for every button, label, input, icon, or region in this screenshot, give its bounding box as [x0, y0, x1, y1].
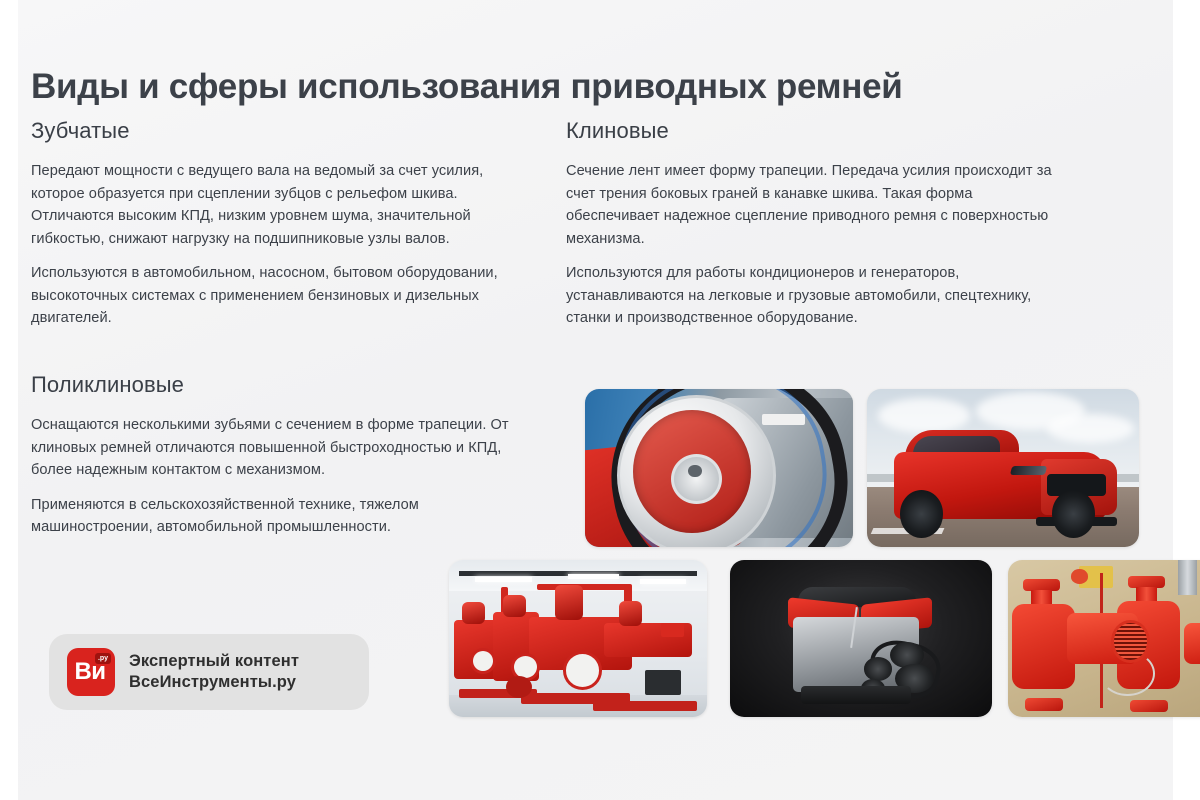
- infographic-canvas: Виды и сферы использования приводных рем…: [0, 0, 1200, 800]
- expert-content-badge: Ви .ру Экспертный контент ВсеИнструменты…: [49, 634, 369, 710]
- fire-pumps-illustration: [449, 560, 707, 717]
- section-paragraph: Оснащаются несколькими зубьями с сечение…: [31, 414, 521, 482]
- photo-v8-engine: [730, 560, 992, 717]
- section-paragraph: Сечение лент имеет форму трапеции. Перед…: [566, 160, 1066, 250]
- section-paragraph: Применяются в сельскохозяйственной техни…: [31, 494, 521, 539]
- section-heading-wedge: Клиновые: [566, 116, 1066, 146]
- sports-car-illustration: [867, 389, 1139, 547]
- photo-sports-car: [867, 389, 1139, 547]
- badge-line-1: Экспертный контент: [129, 651, 299, 672]
- page-title: Виды и сферы использования приводных рем…: [31, 65, 1121, 109]
- section-toothed: Зубчатые Передают мощности с ведущего ва…: [31, 116, 511, 330]
- belt-drive-illustration: [585, 389, 853, 547]
- logo-tld-text: .ру: [95, 653, 111, 664]
- v8-engine-illustration: [730, 560, 992, 717]
- badge-line-2: ВсеИнструменты.ру: [129, 672, 299, 693]
- section-paragraph: Используются для работы кондиционеров и …: [566, 262, 1066, 330]
- section-heading-poly: Поликлиновые: [31, 370, 521, 400]
- vseinstrumenti-logo-icon: Ви .ру: [67, 648, 115, 696]
- photo-centrifugal-pumps: [1008, 560, 1200, 717]
- centrifugal-pumps-illustration: [1008, 560, 1200, 717]
- photo-belt-drive: [585, 389, 853, 547]
- section-poly: Поликлиновые Оснащаются несколькими зубь…: [31, 370, 521, 539]
- badge-text-block: Экспертный контент ВсеИнструменты.ру: [129, 651, 299, 693]
- section-heading-toothed: Зубчатые: [31, 116, 511, 146]
- photo-fire-pumps: [449, 560, 707, 717]
- content-panel: Виды и сферы использования приводных рем…: [18, 0, 1173, 800]
- section-paragraph: Передают мощности с ведущего вала на вед…: [31, 160, 511, 250]
- section-paragraph: Используются в автомобильном, насосном, …: [31, 262, 511, 330]
- section-wedge: Клиновые Сечение лент имеет форму трапец…: [566, 116, 1066, 330]
